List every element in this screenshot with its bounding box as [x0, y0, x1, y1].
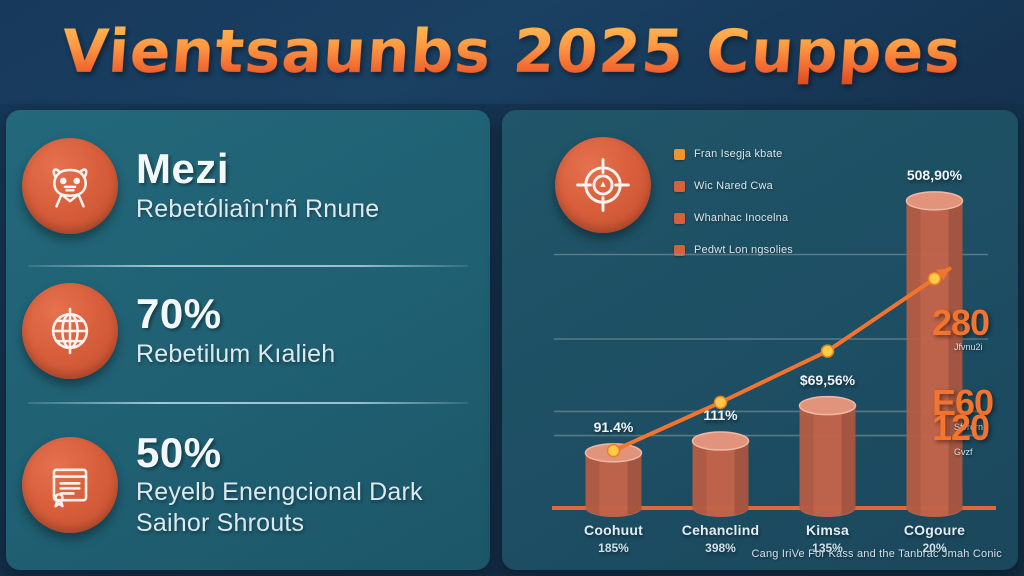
globe-icon: [22, 283, 118, 379]
stat-row[interactable]: Mezi Rebetóliaîn'nñ Rnuпe: [6, 116, 490, 256]
axis-annotation-sub: Gvzf: [954, 447, 989, 457]
x-axis-category-label: Cehanclind: [661, 522, 781, 538]
bar[interactable]: [800, 397, 856, 517]
stat-row[interactable]: 50% Reyelb Enengcional Dark Saihor Shrou…: [6, 406, 490, 564]
stat-label: Rebetilum Kıalieh: [136, 339, 476, 370]
bar[interactable]: [693, 432, 749, 517]
x-axis-percent-label: 185%: [554, 541, 674, 555]
bar[interactable]: [907, 192, 963, 517]
x-axis-category-label: COgoure: [875, 522, 995, 538]
trend-marker[interactable]: [608, 445, 620, 457]
stat-label: Reyelb Enengcional Dark Saihor Shrouts: [136, 477, 476, 538]
bar-value-label: 91.4%: [574, 419, 654, 435]
header-banner: Vientsaunbs 2025 Cuppes: [0, 0, 1024, 104]
chart-footnote: Cang IriVe For Kass and the Tanbrac Jmah…: [751, 548, 1002, 560]
stat-text: 50% Reyelb Enengcional Dark Saihor Shrou…: [136, 432, 490, 539]
axis-annotation-value: 280: [932, 305, 989, 341]
stat-divider: [28, 402, 468, 404]
infographic-root: Vientsaunbs 2025 Cuppes Mezi: [0, 0, 1024, 576]
bar-value-label: 111%: [681, 407, 761, 423]
x-axis-tick: Coohuut185%: [554, 522, 674, 555]
stat-value: Mezi: [136, 148, 476, 191]
axis-annotation: 280Jfvnu2i: [932, 305, 989, 352]
axis-annotation: 120Gvzf: [932, 410, 989, 457]
stat-label: Rebetóliaîn'nñ Rnuпe: [136, 194, 476, 225]
chart-panel: Fran Isegja kbateWic Nared CwaWhanhaс In…: [502, 110, 1018, 570]
bar-value-label: 508,90%: [895, 167, 975, 183]
trend-marker[interactable]: [822, 345, 834, 357]
certificate-document-icon: [22, 437, 118, 533]
stat-text: 70% Rebetilum Kıalieh: [136, 293, 490, 369]
stat-value: 50%: [136, 432, 476, 475]
axis-annotation-sub: Jfvnu2i: [954, 342, 989, 352]
axis-annotation-value: 120: [932, 410, 989, 446]
page-title: Vientsaunbs 2025 Cuppes: [60, 17, 964, 87]
animal-mask-icon: [22, 138, 118, 234]
stat-row[interactable]: 70% Rebetilum Kıalieh: [6, 266, 490, 396]
stats-panel: Mezi Rebetóliaîn'nñ Rnuпe 70% Rebetilum …: [6, 110, 490, 570]
trend-line: [614, 279, 935, 451]
x-axis-category-label: Kimsa: [768, 522, 888, 538]
stat-value: 70%: [136, 293, 476, 336]
bar-value-label: $69,56%: [788, 372, 868, 388]
trend-marker[interactable]: [929, 273, 941, 285]
x-axis-category-label: Coohuut: [554, 522, 674, 538]
stat-text: Mezi Rebetóliaîn'nñ Rnuпe: [136, 148, 490, 224]
